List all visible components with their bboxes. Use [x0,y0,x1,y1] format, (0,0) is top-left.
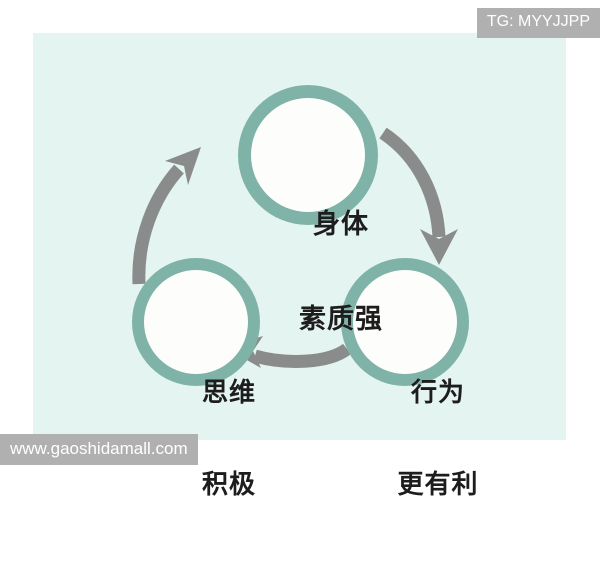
telegram-watermark-badge: TG: MYYJJPP [477,8,600,38]
arrow-top-to-right-icon [383,133,458,265]
node-right-label-line2: 更有利 [368,469,508,500]
screenshot-canvas: 身体 素质强 思维 积极 行为 更有利 axn TG: MYYJJPP www.… [0,0,600,480]
node-right-circle[interactable] [341,258,469,386]
cycle-diagram [33,33,566,440]
node-top-circle[interactable] [238,85,378,225]
node-left-label-line2: 积极 [159,469,299,500]
node-left-circle[interactable] [132,258,260,386]
diagram-panel: 身体 素质强 思维 积极 行为 更有利 axn [33,33,566,440]
website-watermark-badge: www.gaoshidamall.com [0,434,198,465]
